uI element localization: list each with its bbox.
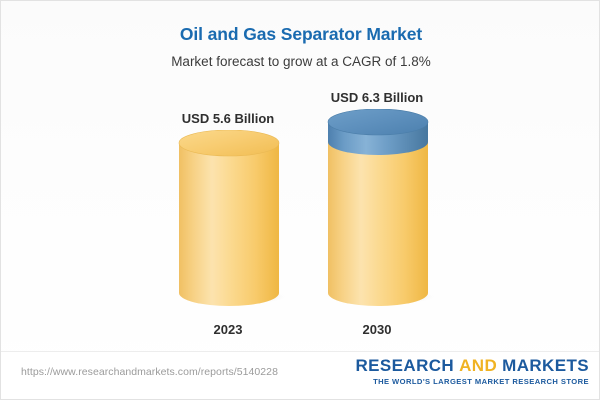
brand-logo-markets: MARKETS — [502, 356, 589, 375]
brand-logo[interactable]: RESEARCHANDMARKETS THE WORLD'S LARGEST M… — [356, 356, 590, 387]
bar-cylinder-2023 — [177, 130, 287, 306]
bar-value-label-2023: USD 5.6 Billion — [138, 111, 318, 126]
bar-group-2023: USD 5.6 Billion — [177, 144, 279, 306]
plot-area: USD 5.6 Billion — [1, 1, 600, 353]
brand-logo-wordmark: RESEARCHANDMARKETS — [356, 356, 590, 376]
bar-cylinder-2030 — [326, 109, 436, 306]
bar-category-label-2030: 2030 — [287, 322, 467, 337]
brand-logo-tagline: THE WORLD'S LARGEST MARKET RESEARCH STOR… — [356, 377, 590, 387]
chart-card: Oil and Gas Separator Market Market fore… — [0, 0, 600, 400]
report-url-link[interactable]: https://www.researchandmarkets.com/repor… — [21, 366, 278, 378]
footer: https://www.researchandmarkets.com/repor… — [1, 351, 600, 399]
bar-group-2030: USD 6.3 Billion — [326, 123, 428, 306]
bar-value-label-2030: USD 6.3 Billion — [287, 90, 467, 105]
brand-logo-and: AND — [454, 356, 502, 375]
brand-logo-research: RESEARCH — [356, 356, 455, 375]
